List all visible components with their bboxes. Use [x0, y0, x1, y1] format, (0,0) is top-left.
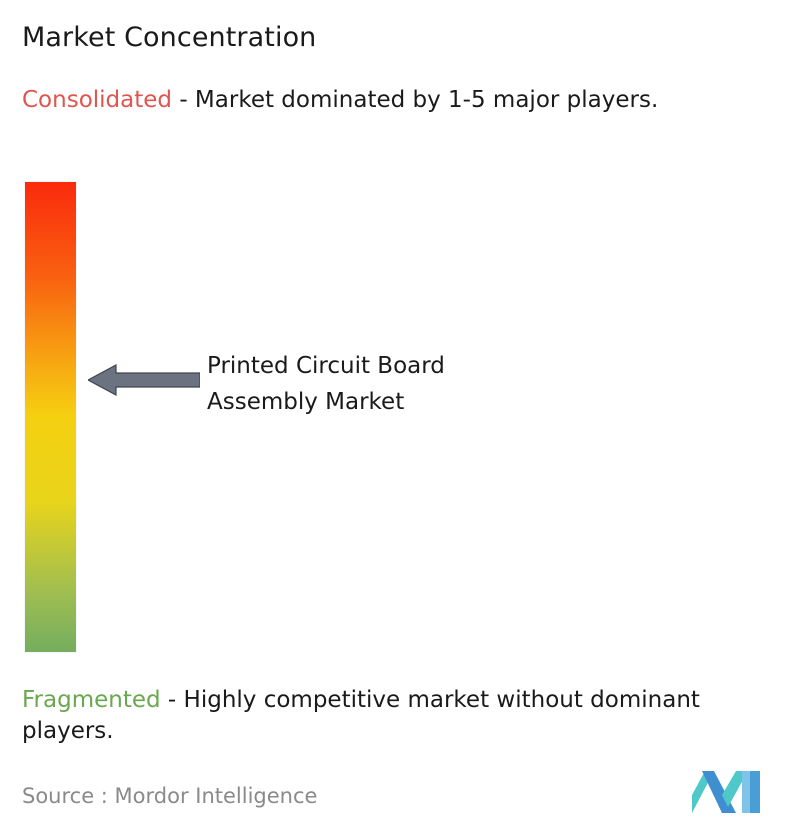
source-attribution: Source : Mordor Intelligence: [22, 782, 317, 810]
page-title: Market Concentration: [22, 20, 316, 56]
marker-label-line-2: Assembly Market: [207, 384, 445, 420]
legend-fragmented: Fragmented - Highly competitive market w…: [22, 685, 790, 747]
mordor-intelligence-logo: [692, 771, 760, 813]
legend-consolidated: Consolidated - Market dominated by 1-5 m…: [22, 85, 782, 116]
marker-label-line-1: Printed Circuit Board: [207, 348, 445, 384]
legend-key-fragmented: Fragmented: [22, 687, 161, 713]
marker-label: Printed Circuit Board Assembly Market: [207, 348, 445, 420]
legend-key-consolidated: Consolidated: [22, 87, 172, 113]
arrow-left-icon: [88, 362, 200, 398]
concentration-gradient-bar: [25, 182, 76, 652]
market-concentration-infographic: Market Concentration Consolidated - Mark…: [0, 0, 796, 834]
legend-description-consolidated: - Market dominated by 1-5 major players.: [172, 87, 658, 113]
